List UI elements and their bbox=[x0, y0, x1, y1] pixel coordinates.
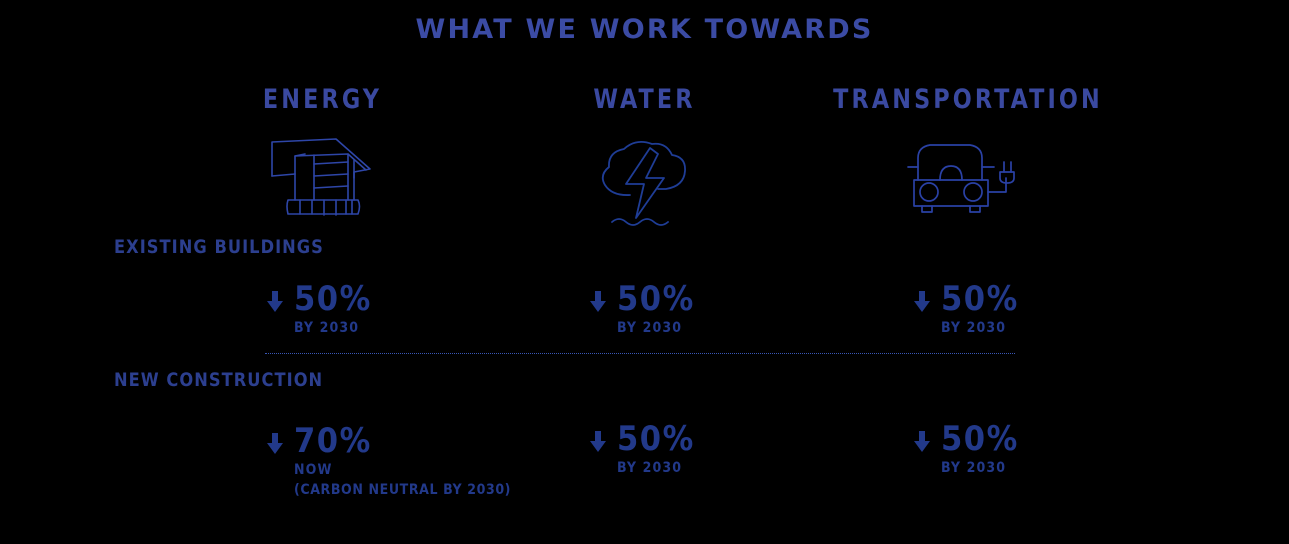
stat-caption: BY 2030 bbox=[617, 320, 695, 337]
row-divider bbox=[265, 353, 1015, 355]
stat-value: 50% bbox=[617, 282, 695, 316]
stat-value: 50% bbox=[294, 282, 372, 316]
column-header-water: WATER bbox=[523, 84, 767, 115]
stat-subcaption: (CARBON NEUTRAL BY 2030) bbox=[294, 482, 511, 499]
stat-existing-transportation: 50% BY 2030 bbox=[913, 282, 1019, 337]
cloud-lightning-water-icon bbox=[586, 134, 701, 234]
stat-existing-water: 50% BY 2030 bbox=[589, 282, 695, 337]
column-header-transportation: TRANSPORTATION bbox=[830, 84, 1106, 115]
stat-new-transportation: 50% BY 2030 bbox=[913, 422, 1019, 477]
arrow-down-icon bbox=[589, 291, 607, 313]
stat-caption: NOW bbox=[294, 462, 511, 479]
arrow-down-icon bbox=[913, 291, 931, 313]
stat-caption: BY 2030 bbox=[941, 460, 1019, 477]
stat-value: 70% bbox=[294, 424, 511, 458]
stat-existing-energy: 50% BY 2030 bbox=[266, 282, 372, 337]
building-icon bbox=[262, 134, 382, 224]
stat-new-energy: 70% NOW (CARBON NEUTRAL BY 2030) bbox=[266, 424, 511, 499]
arrow-down-icon bbox=[589, 431, 607, 453]
arrow-down-icon bbox=[266, 291, 284, 313]
stat-value: 50% bbox=[941, 282, 1019, 316]
stat-new-water: 50% BY 2030 bbox=[589, 422, 695, 477]
stat-caption: BY 2030 bbox=[294, 320, 372, 337]
infographic-root: WHAT WE WORK TOWARDS ENERGY WATER TRANSP… bbox=[0, 0, 1289, 544]
stat-value: 50% bbox=[941, 422, 1019, 456]
stat-caption: BY 2030 bbox=[941, 320, 1019, 337]
stat-caption: BY 2030 bbox=[617, 460, 695, 477]
arrow-down-icon bbox=[913, 431, 931, 453]
stat-value: 50% bbox=[617, 422, 695, 456]
row-label-new-construction: NEW CONSTRUCTION bbox=[114, 369, 323, 391]
page-title: WHAT WE WORK TOWARDS bbox=[0, 14, 1289, 45]
row-label-existing-buildings: EXISTING BUILDINGS bbox=[114, 236, 324, 258]
electric-vehicle-plug-icon bbox=[902, 134, 1032, 219]
column-header-energy: ENERGY bbox=[201, 84, 445, 115]
arrow-down-icon bbox=[266, 433, 284, 455]
